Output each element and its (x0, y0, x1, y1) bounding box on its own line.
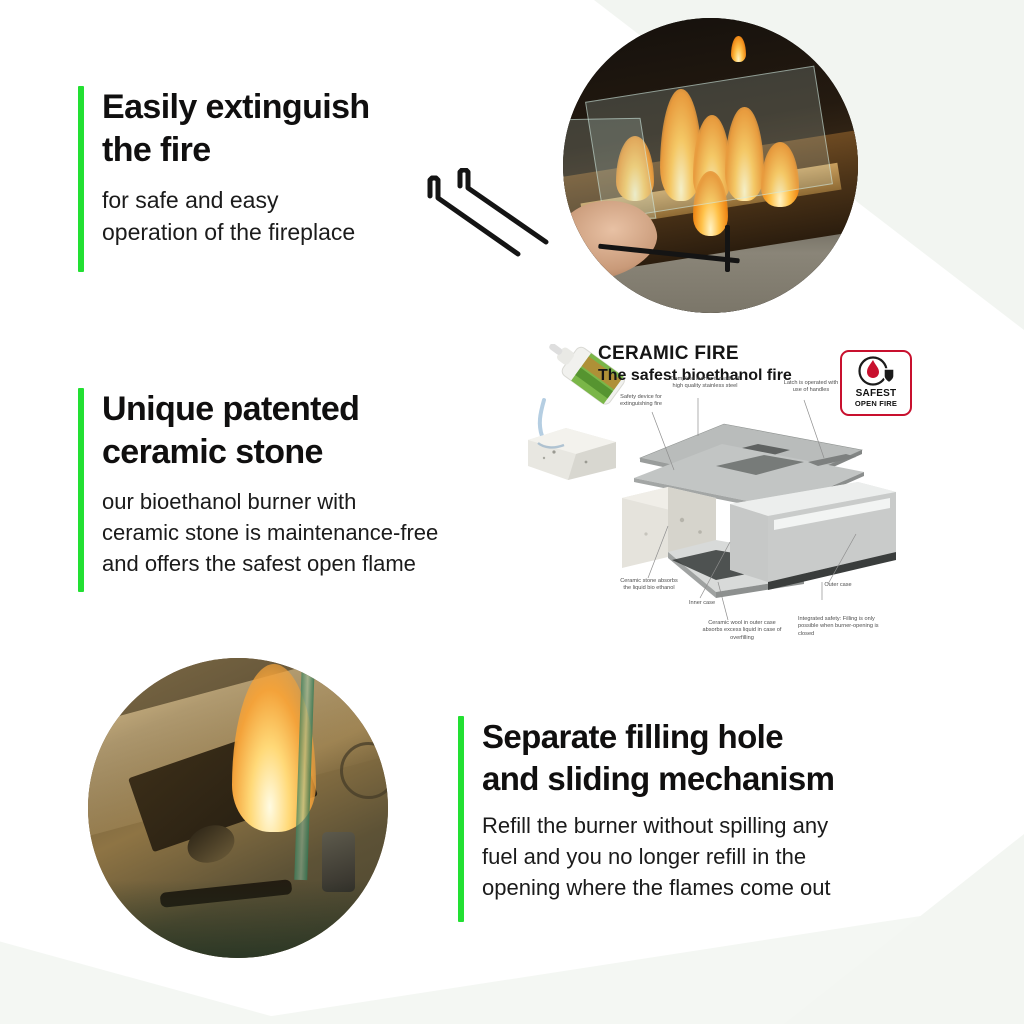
feature-body-ceramic-stone: our bioethanol burner with ceramic stone… (102, 486, 558, 579)
callout-inner-case: Inner case (674, 600, 730, 607)
callout-stainless-steel: Complete burner is made of high quality … (670, 376, 740, 391)
photo-shadow (88, 880, 388, 958)
body-line-1: for safe and easy (102, 187, 278, 213)
body-line-3: and offers the safest open flame (102, 551, 416, 576)
heading-line-2: ceramic stone (102, 433, 323, 471)
heading-line-1: Easily extinguish (102, 88, 370, 126)
heading-line-1: Unique patented (102, 390, 359, 428)
body-line-2: operation of the fireplace (102, 219, 355, 245)
accent-bar-extinguish (78, 86, 84, 272)
feature-body-filling-hole: Refill the burner without spilling any f… (482, 810, 958, 903)
feature-block-filling-hole: Separate filling hole and sliding mechan… (458, 716, 958, 903)
callout-ceramic-wool: Ceramic wool in outer case absorbs exces… (700, 620, 784, 642)
shield-icon (884, 369, 894, 383)
infographic-canvas: Easily extinguish the fire for safe and … (0, 0, 1024, 1024)
brand-name: CERAMIC FIRE (598, 343, 792, 365)
feature-heading-filling-hole: Separate filling hole and sliding mechan… (482, 716, 958, 800)
exploded-burner-diagram: Safety device for extinguishing fire Com… (612, 392, 912, 642)
accent-bar-ceramic-stone (78, 388, 84, 592)
feature-block-ceramic-stone: Unique patented ceramic stone our bioeth… (78, 388, 558, 579)
body-line-2: fuel and you no longer refill in the (482, 844, 806, 869)
pouring-liquid-stream (540, 400, 544, 436)
callout-outer-case: Outer case (810, 582, 866, 589)
heading-line-2: the fire (102, 131, 211, 169)
photo-fireplace-flames (563, 18, 858, 313)
callout-safety-device: Safety device for extinguishing fire (608, 394, 674, 409)
body-line-1: Refill the burner without spilling any (482, 813, 828, 838)
body-line-2: ceramic stone is maintenance-free (102, 520, 438, 545)
extinguish-rod-2 (460, 170, 546, 242)
heading-line-1: Separate filling hole (482, 718, 783, 755)
flame-icon (867, 360, 879, 378)
callout-ceramic-stone-absorbs: Ceramic stone absorbs the liquid bio eth… (618, 578, 680, 593)
heading-line-2: and sliding mechanism (482, 760, 834, 797)
accent-bar-filling-hole (458, 716, 464, 922)
logo-ring-icon (340, 742, 388, 799)
body-line-1: our bioethanol burner with (102, 489, 356, 514)
callout-latch-handles: Latch is operated with use of handles (780, 380, 842, 395)
callout-integrated-safety: Integrated safety: Filling is only possi… (798, 616, 894, 638)
feature-heading-ceramic-stone: Unique patented ceramic stone (102, 388, 558, 474)
tool-in-hand-tip (725, 225, 730, 272)
photo-burner-closeup (88, 658, 388, 958)
feature-heading-extinguish: Easily extinguish the fire (102, 86, 478, 172)
body-line-3: opening where the flames come out (482, 875, 831, 900)
